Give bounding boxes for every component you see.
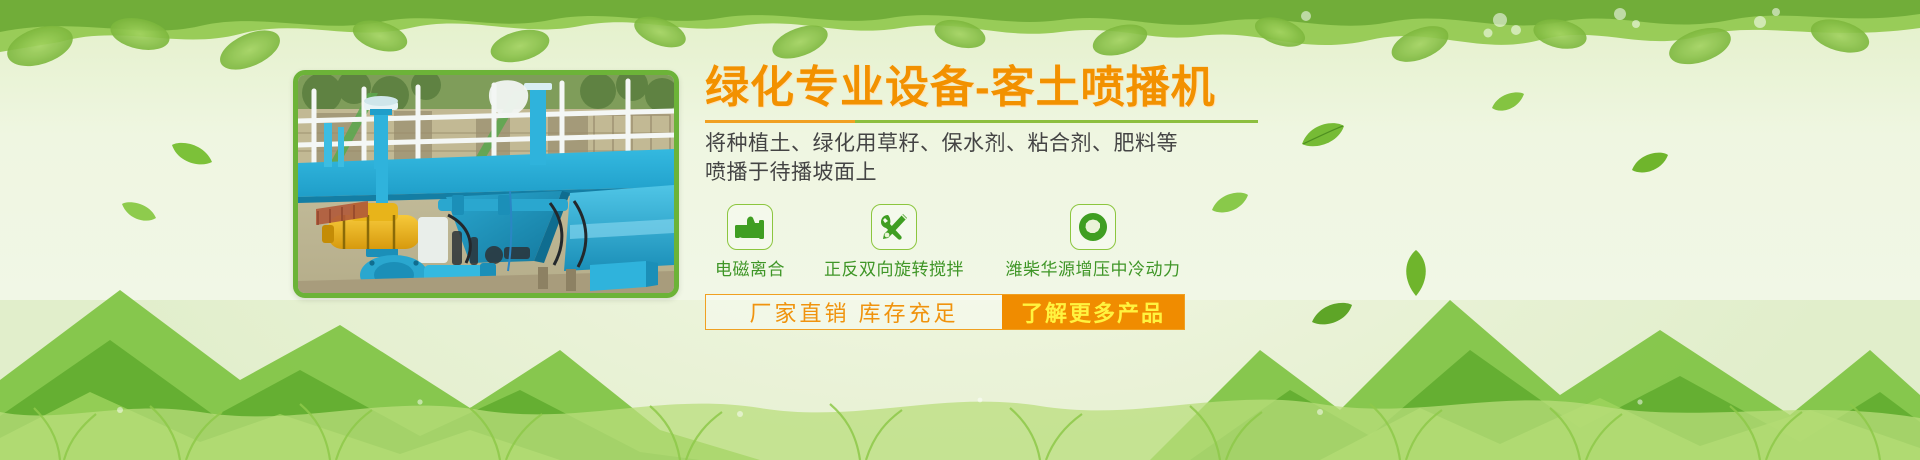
feature-label: 潍柴华源增压中冷动力: [993, 255, 1193, 280]
divider-green-segment: [855, 120, 1258, 123]
hand-clutch-icon: [727, 204, 773, 250]
learn-more-button[interactable]: 了解更多产品: [1002, 295, 1184, 329]
subtitle-line-1: 将种植土、绿化用草籽、保水剂、粘合剂、肥料等: [705, 129, 1265, 159]
cta-slogan: 厂家直销 库存充足: [706, 295, 1002, 329]
page-title: 绿化专业设备-客土喷播机: [705, 64, 1265, 112]
gear-ring-icon: [1070, 204, 1116, 250]
cta-bar: 厂家直销 库存充足 了解更多产品: [705, 294, 1185, 330]
floating-leaf-icon: [170, 140, 214, 168]
feature-item-weichai-power[interactable]: 潍柴华源增压中冷动力: [993, 204, 1193, 280]
subtitle-line-2: 喷播于待播坡面上: [705, 158, 1265, 188]
promo-banner: 绿化专业设备-客土喷播机 将种植土、绿化用草籽、保水剂、粘合剂、肥料等 喷播于待…: [0, 0, 1920, 460]
feature-item-bidirectional-mixing[interactable]: 正反双向旋转搅拌: [809, 204, 979, 280]
divider-orange-segment: [705, 120, 855, 123]
feature-list: 电磁离合 正反双向旋转搅拌: [705, 204, 1265, 280]
floating-leaf-icon: [1400, 250, 1434, 296]
floating-leaf-icon: [1310, 300, 1354, 328]
title-divider: [705, 120, 1258, 123]
feature-label: 电磁离合: [705, 255, 795, 280]
banner-content: 绿化专业设备-客土喷播机 将种植土、绿化用草籽、保水剂、粘合剂、肥料等 喷播于待…: [705, 64, 1265, 330]
product-photo-image: [298, 75, 674, 293]
wrench-screwdriver-icon: [871, 204, 917, 250]
grass-decoration: [0, 340, 1920, 460]
floating-leaf-icon: [1490, 90, 1526, 114]
feature-item-electromagnetic-clutch[interactable]: 电磁离合: [705, 204, 795, 280]
floating-leaf-icon: [1630, 150, 1670, 176]
floating-leaf-icon: [1300, 120, 1346, 150]
product-photo[interactable]: [293, 70, 679, 298]
floating-leaf-icon: [120, 200, 158, 224]
feature-label: 正反双向旋转搅拌: [809, 255, 979, 280]
